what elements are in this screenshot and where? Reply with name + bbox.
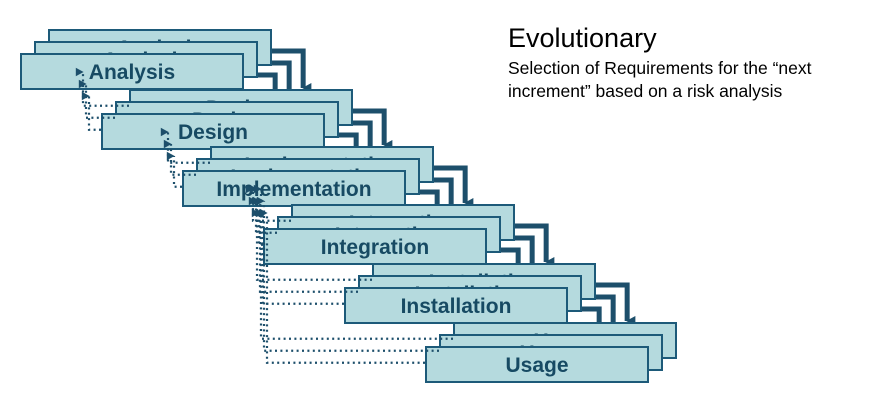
stage-box-integration[interactable]: Integration <box>264 229 486 264</box>
stage-label-implementation: Implementation <box>216 178 371 201</box>
feedback-arrow <box>259 213 263 245</box>
stage-label-usage: Usage <box>505 354 568 377</box>
diagram-canvas: AnalysisAnalysisAnalysisDesignDesignDesi… <box>0 0 881 407</box>
legend-title: Evolutionary <box>508 22 868 54</box>
stage-box-design[interactable]: Design <box>102 114 324 149</box>
legend: Evolutionary Selection of Requirements f… <box>508 22 868 103</box>
feedback-arrow <box>89 96 101 130</box>
stage-label-installation: Installation <box>401 295 512 318</box>
stage-label-design: Design <box>178 121 248 144</box>
stage-box-installation[interactable]: Installation <box>345 288 567 323</box>
stage-box-usage[interactable]: Usage <box>426 347 648 382</box>
feedback-arrow <box>174 156 182 187</box>
legend-description: Selection of Requirements for the “next … <box>508 57 868 103</box>
stage-label-integration: Integration <box>321 236 430 259</box>
stage-box-implementation[interactable]: Implementation <box>183 171 405 206</box>
stage-label-analysis: Analysis <box>89 61 175 84</box>
stage-box-analysis[interactable]: Analysis <box>21 54 243 89</box>
